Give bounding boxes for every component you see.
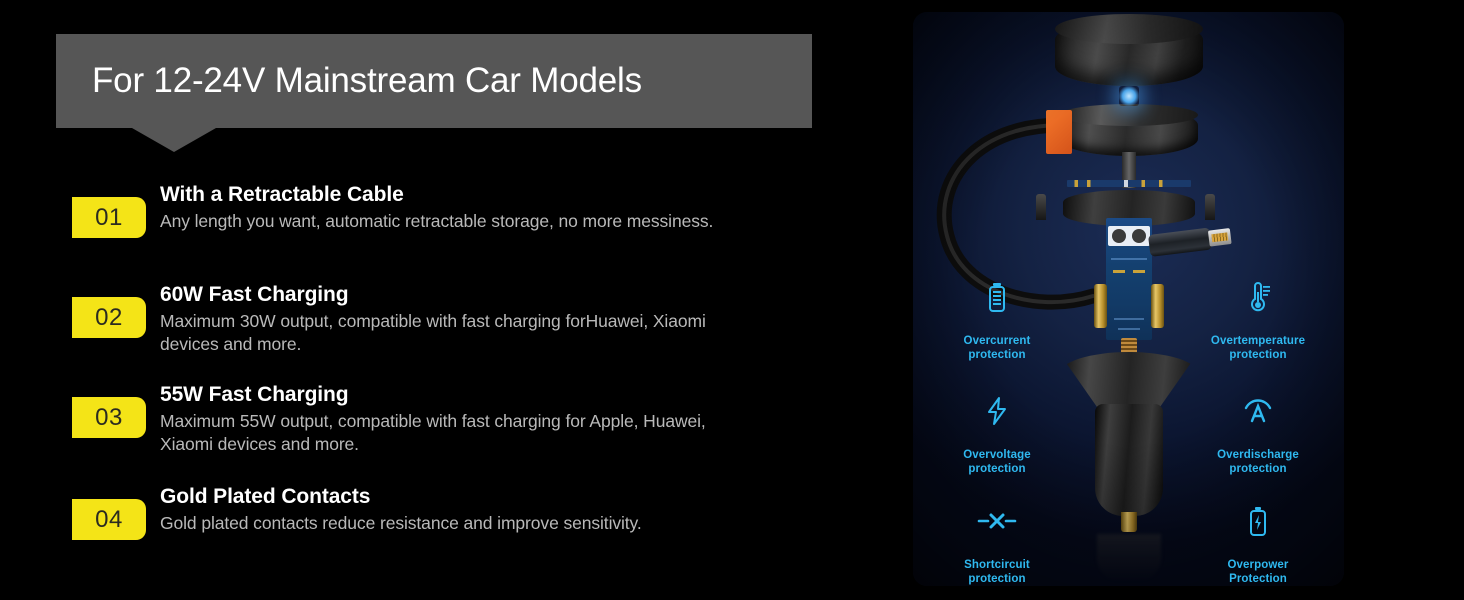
badge-number: 04 [95, 506, 123, 534]
short-circuit-icon [931, 504, 1063, 538]
feature-title: With a Retractable Cable [160, 182, 832, 208]
protection-item-overpower: Overpower Protection [1192, 504, 1324, 586]
battery-icon [931, 280, 1063, 314]
lightning-bolt-icon [931, 394, 1063, 428]
protection-item-overcurrent: Overcurrent protection [931, 280, 1063, 362]
feature-description: Maximum 55W output, compatible with fast… [160, 410, 760, 456]
header-banner: For 12-24V Mainstream Car Models [56, 34, 812, 128]
list-item: 01 With a Retractable Cable Any length y… [72, 182, 832, 238]
badge-number: 01 [95, 204, 123, 232]
feature-description: Maximum 30W output, compatible with fast… [160, 310, 760, 356]
feature-title: 55W Fast Charging [160, 382, 832, 408]
protection-item-overdischarge: Overdischarge protection [1192, 394, 1324, 476]
protection-label: Overtemperature protection [1192, 334, 1324, 362]
feature-title: Gold Plated Contacts [160, 484, 832, 510]
banner-pointer-tail [132, 128, 216, 152]
feature-description: Any length you want, automatic retractab… [160, 210, 760, 233]
discharge-arc-icon [1192, 394, 1324, 428]
badge-number: 03 [95, 404, 123, 432]
banner-box: For 12-24V Mainstream Car Models [56, 34, 812, 128]
feature-number-badge: 01 [72, 197, 146, 238]
feature-title: 60W Fast Charging [160, 282, 832, 308]
left-content-column: For 12-24V Mainstream Car Models 01 With… [0, 0, 900, 600]
feature-description: Gold plated contacts reduce resistance a… [160, 512, 760, 535]
protection-item-overvoltage: Overvoltage protection [931, 394, 1063, 476]
protection-label: Overcurrent protection [931, 334, 1063, 362]
product-image-panel: Overcurrent protection Overtemperature p… [913, 12, 1344, 586]
feature-list: 01 With a Retractable Cable Any length y… [72, 182, 832, 568]
list-item: 02 60W Fast Charging Maximum 30W output,… [72, 282, 832, 356]
feature-text-block: 60W Fast Charging Maximum 30W output, co… [160, 282, 832, 356]
protection-item-shortcircuit: Shortcircuit protection [931, 504, 1063, 586]
battery-bolt-icon [1192, 504, 1324, 538]
feature-text-block: With a Retractable Cable Any length you … [160, 182, 832, 233]
protection-item-overtemperature: Overtemperature protection [1192, 280, 1324, 362]
product-infographic: For 12-24V Mainstream Car Models 01 With… [0, 0, 1464, 600]
list-item: 04 Gold Plated Contacts Gold plated cont… [72, 484, 832, 540]
protection-label: Shortcircuit protection [931, 558, 1063, 586]
feature-number-badge: 03 [72, 397, 146, 438]
protection-label: Overpower Protection [1192, 558, 1324, 586]
feature-text-block: 55W Fast Charging Maximum 55W output, co… [160, 382, 832, 456]
list-item: 03 55W Fast Charging Maximum 55W output,… [72, 382, 832, 456]
protection-label: Overvoltage protection [931, 448, 1063, 476]
protection-label: Overdischarge protection [1192, 448, 1324, 476]
badge-number: 02 [95, 304, 123, 332]
page-title: For 12-24V Mainstream Car Models [92, 61, 642, 101]
feature-number-badge: 02 [72, 297, 146, 338]
feature-number-badge: 04 [72, 499, 146, 540]
protection-feature-grid: Overcurrent protection Overtemperature p… [913, 12, 1344, 586]
feature-text-block: Gold Plated Contacts Gold plated contact… [160, 484, 832, 535]
thermometer-icon [1192, 280, 1324, 314]
